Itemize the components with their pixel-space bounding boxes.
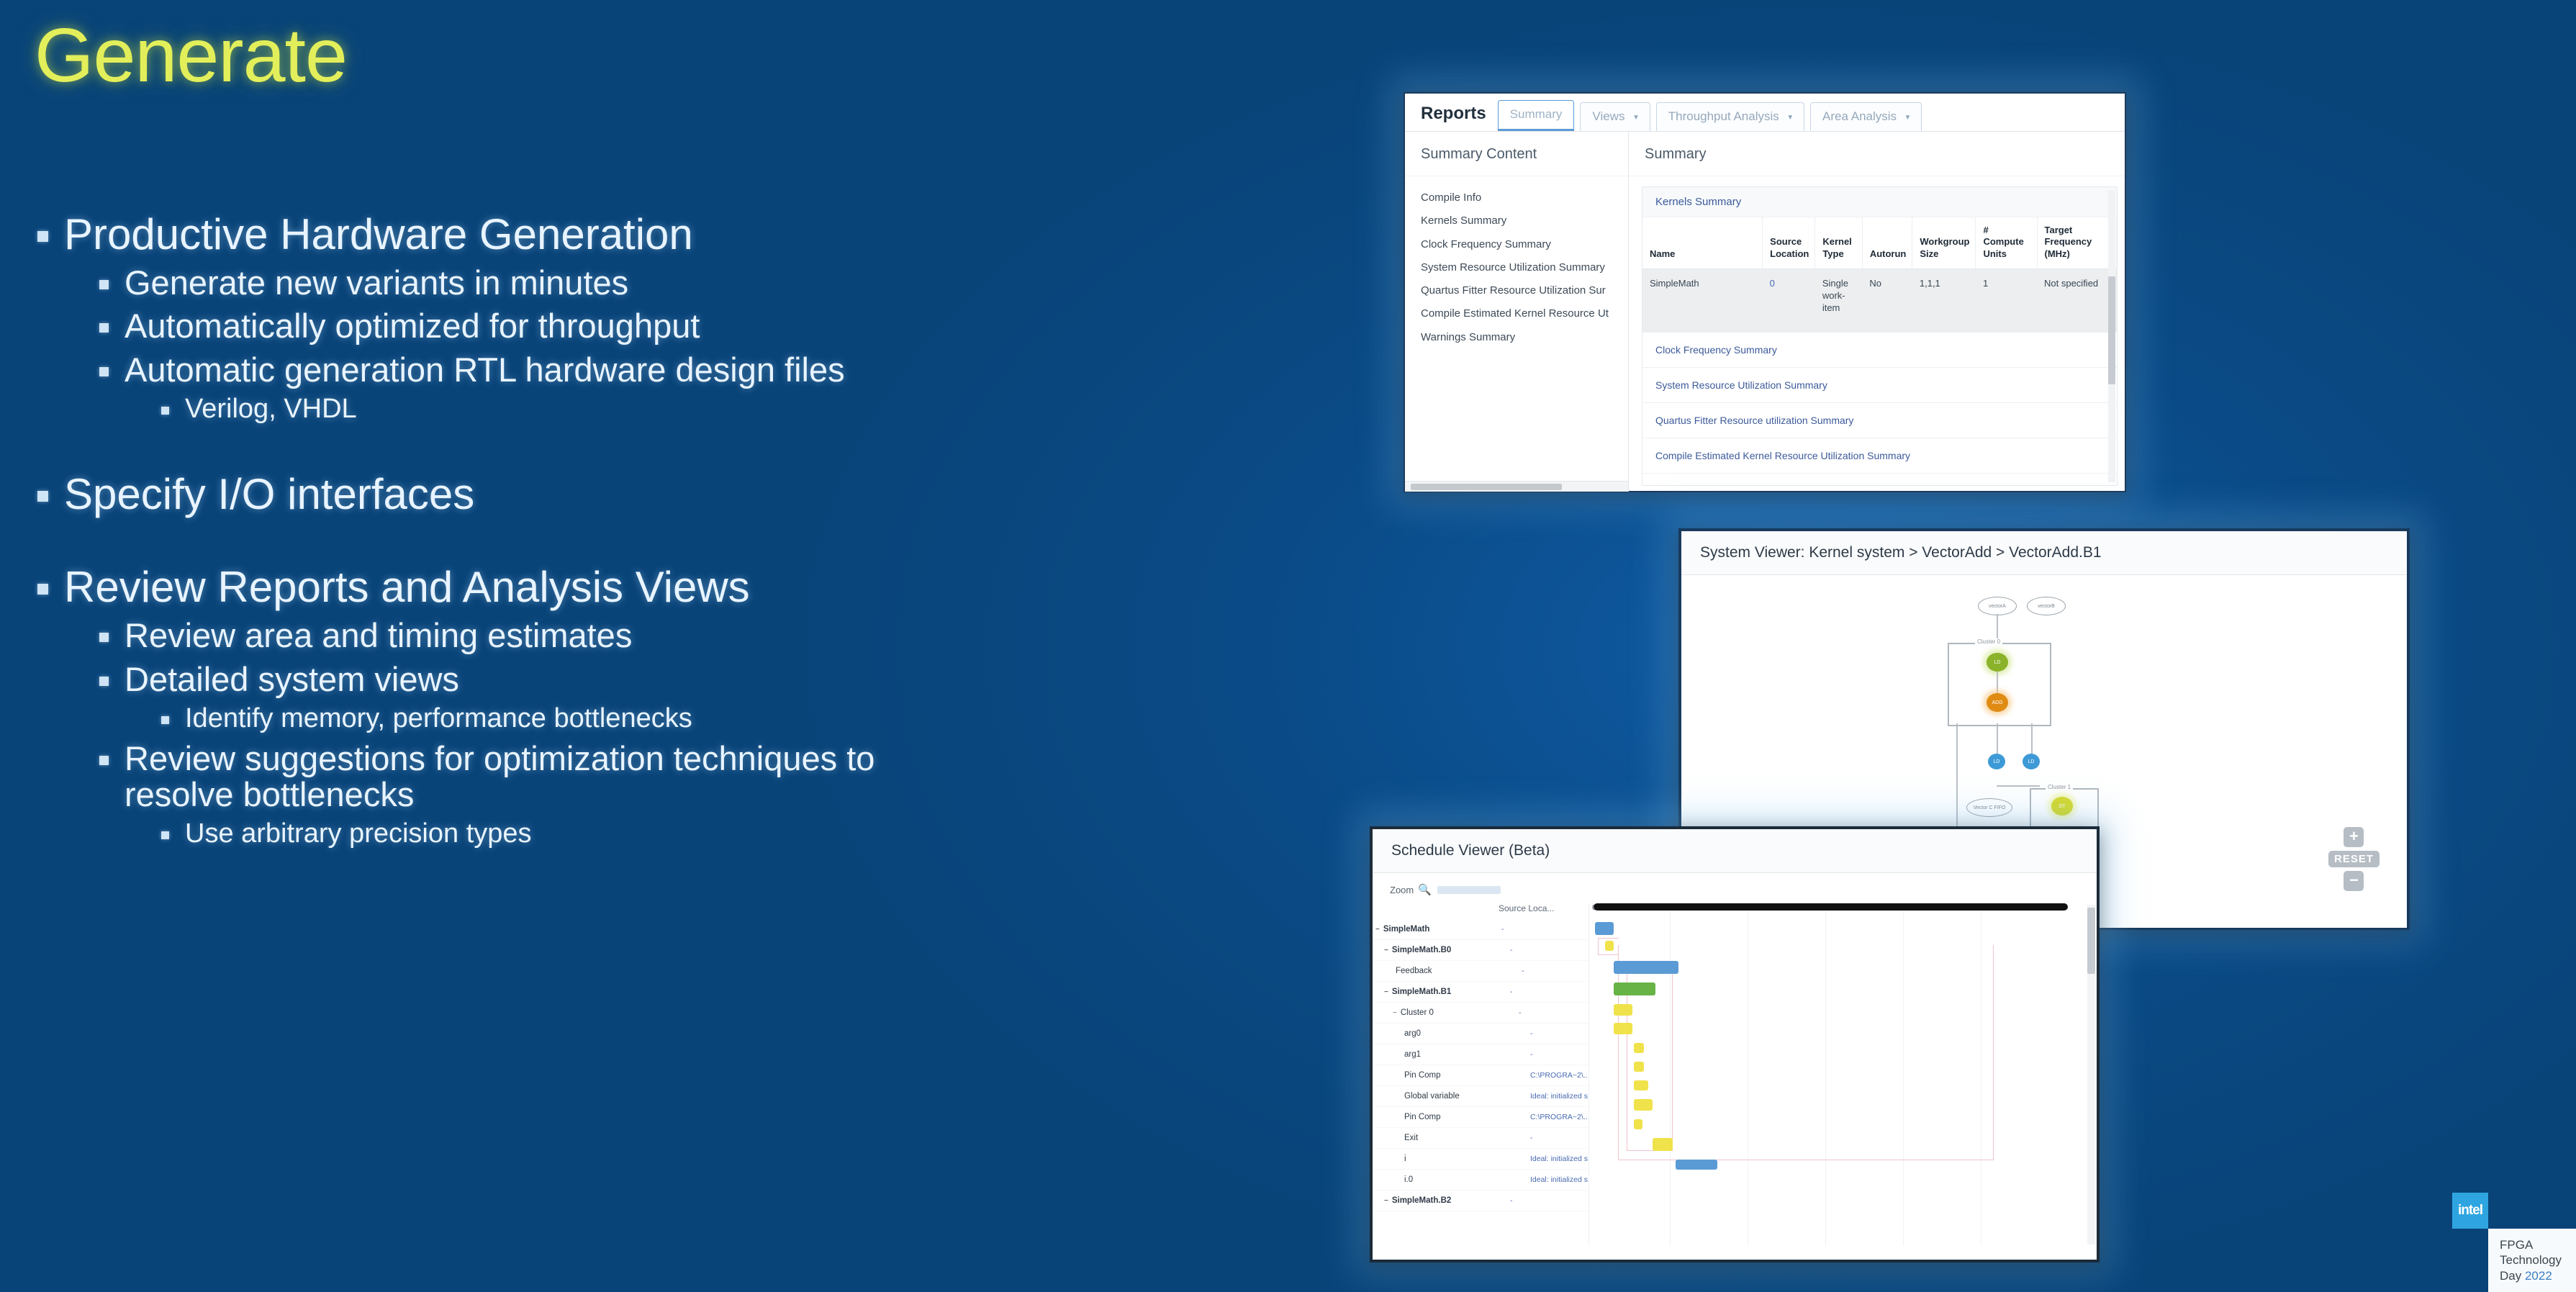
list-item-label: Detailed system views <box>125 661 459 698</box>
spacer <box>37 424 1376 469</box>
link-quartus-fitter-summary[interactable]: Quartus Fitter Resource utilization Summ… <box>1642 403 2117 438</box>
list-item: Identify memory, performance bottlenecks <box>161 704 1376 733</box>
chart-bar[interactable] <box>1653 1138 1673 1151</box>
chart-bar[interactable] <box>1634 1062 1644 1072</box>
tab-area-analysis-label: Area Analysis <box>1822 109 1897 123</box>
list-item-label: Automatic generation RTL hardware design… <box>125 352 845 389</box>
bullet-square-icon <box>99 677 109 686</box>
list-item-label: Verilog, VHDL <box>185 394 357 424</box>
tree-twisty-icon[interactable]: − <box>1384 988 1388 996</box>
bullet-square-icon <box>161 716 169 724</box>
schedule-viewer-title: Schedule Viewer (Beta) <box>1373 829 2097 873</box>
summary-main: Summary Kernels Summary Name Source Loca… <box>1629 132 2125 492</box>
tree-row[interactable]: Feedback- <box>1373 961 1588 982</box>
reports-title: Reports <box>1415 104 1498 131</box>
tree-row-source[interactable]: C:\PROGRA~2\.. <box>1530 1113 1588 1121</box>
chart-bar[interactable] <box>1634 1099 1653 1111</box>
tree-row-label: SimpleMath.B1 <box>1392 988 1451 996</box>
reports-body: Summary Content Compile Info Kernels Sum… <box>1405 132 2125 492</box>
table-row[interactable]: SimpleMath 0 Single work-item No 1,1,1 1… <box>1642 268 2117 333</box>
cell-compute-units: 1 <box>1976 268 2037 333</box>
tree-row-label: Global variable <box>1404 1092 1460 1101</box>
bullet-square-icon <box>99 280 109 289</box>
group-cluster-0-label: Cluster 0 <box>1975 638 2002 645</box>
schedule-dependency-path <box>1618 945 1994 1160</box>
node-vectorA[interactable]: vectorA <box>1978 597 2017 615</box>
chart-bar[interactable] <box>1614 961 1678 974</box>
tree-row[interactable]: arg0- <box>1373 1024 1588 1044</box>
tree-row-label: i.0 <box>1404 1175 1413 1184</box>
bullet-square-icon <box>37 231 48 242</box>
cell-name: SimpleMath <box>1642 268 1763 333</box>
tree-row-source: - <box>1501 925 1588 934</box>
schedule-chart[interactable]: 0 3 6 9 12 15 18 21 24 27 30 33 36 39 42… <box>1589 903 2097 1246</box>
bullet-square-icon <box>99 367 109 376</box>
list-item-label: Review Reports and Analysis Views <box>64 564 750 610</box>
tab-throughput-analysis-label: Throughput Analysis <box>1668 109 1779 123</box>
fpga-day-label: Day <box>2500 1269 2525 1283</box>
bullet-square-icon <box>99 756 109 765</box>
tab-summary[interactable]: Summary <box>1498 100 1575 131</box>
list-item: Review Reports and Analysis Views <box>37 564 1376 610</box>
chart-timeline-bar[interactable] <box>1594 903 2068 911</box>
sidebar-header: Summary Content <box>1405 132 1628 176</box>
bullet-square-icon <box>161 407 169 415</box>
list-item-label: Productive Hardware Generation <box>64 212 693 258</box>
tree-row[interactable]: arg1- <box>1373 1044 1588 1065</box>
tree-row-label: Cluster 0 <box>1401 1008 1434 1017</box>
kernels-summary-section-title[interactable]: Kernels Summary <box>1642 187 2117 217</box>
node-label: vectorB <box>2038 604 2055 609</box>
tree-col-source: Source Loca... <box>1499 903 1554 913</box>
tree-row-source: - <box>1519 1008 1588 1017</box>
list-item: Automatically optimized for throughput <box>99 308 1376 345</box>
cell-autorun: No <box>1862 268 1912 333</box>
tree-col-name <box>1373 903 1499 913</box>
edge <box>1956 723 1958 839</box>
zoom-out-icon[interactable]: − <box>2344 871 2364 891</box>
node-label: LD <box>1994 759 2000 764</box>
tree-row[interactable]: Pin CompC:\PROGRA~2\.. <box>1373 1065 1588 1086</box>
tree-row-source: - <box>1530 1029 1588 1038</box>
tree-row-label: Exit <box>1404 1134 1418 1142</box>
fpga-line-1: FPGA <box>2500 1237 2569 1252</box>
node-label: ST <box>2059 804 2066 809</box>
reports-window[interactable]: Reports Summary Views ▾ Throughput Analy… <box>1404 92 2126 492</box>
scrollbar-thumb[interactable] <box>2087 908 2095 974</box>
sidebar-item-quartus-fitter[interactable]: Quartus Fitter Resource Utilization Sur <box>1421 279 1628 302</box>
tree-row-label: SimpleMath <box>1383 925 1430 934</box>
edge <box>1997 723 1998 754</box>
summary-header: Summary <box>1629 132 2125 176</box>
link-clock-frequency-summary[interactable]: Clock Frequency Summary <box>1642 333 2117 368</box>
col-compute-units: # Compute Units <box>1976 217 2037 268</box>
tree-row-label: arg0 <box>1404 1029 1421 1038</box>
edge <box>2031 723 2033 754</box>
sidebar-horizontal-scrollbar[interactable] <box>1405 481 1628 492</box>
col-kernel-type: Kernel Type <box>1815 217 1863 268</box>
tab-views[interactable]: Views ▾ <box>1580 102 1650 131</box>
tree-row-source: - <box>1522 967 1588 975</box>
chart-bar[interactable] <box>1634 1080 1648 1090</box>
node-add[interactable]: ADD <box>1987 693 2008 712</box>
kernels-summary-table: Name Source Location Kernel Type Autorun… <box>1642 217 2117 333</box>
node-pipe-1[interactable]: LD <box>2023 754 2040 769</box>
tree-row-source[interactable]: C:\PROGRA~2\.. <box>1530 1071 1588 1080</box>
list-item-label: Review suggestions for optimization tech… <box>125 741 887 814</box>
fpga-line-3: Day 2022 <box>2500 1268 2569 1283</box>
zoom-reset-button[interactable]: RESET <box>2328 851 2380 867</box>
tree-row[interactable]: −Cluster 0- <box>1373 1003 1588 1024</box>
sidebar-item-warnings-summary[interactable]: Warnings Summary <box>1421 326 1628 349</box>
sidebar-item-system-resource[interactable]: System Resource Utilization Summary <box>1421 256 1628 279</box>
tree-twisty-icon[interactable]: − <box>1384 1197 1388 1205</box>
node-label: Vector C FIFO <box>1974 805 2006 810</box>
bullet-list: Productive Hardware Generation Generate … <box>37 209 1376 849</box>
sidebar-item-compile-info[interactable]: Compile Info <box>1421 186 1628 209</box>
node-st[interactable]: ST <box>2051 797 2073 816</box>
tree-row[interactable]: Pin CompC:\PROGRA~2\.. <box>1373 1107 1588 1128</box>
chart-bar[interactable] <box>1676 1160 1717 1170</box>
tree-row-label: i <box>1404 1155 1406 1163</box>
tree-row-source: - <box>1510 988 1588 996</box>
list-item: Use arbitrary precision types <box>161 819 1376 849</box>
table-header-row: Name Source Location Kernel Type Autorun… <box>1642 217 2117 268</box>
summary-vertical-scrollbar[interactable] <box>2108 190 2115 482</box>
node-label: LD <box>1994 660 2001 665</box>
bullet-square-icon <box>161 831 169 839</box>
tree-row[interactable]: −SimpleMath.B2- <box>1373 1191 1588 1211</box>
chart-vertical-scrollbar[interactable] <box>2087 905 2095 1244</box>
tree-row[interactable]: Exit- <box>1373 1128 1588 1149</box>
chart-bar[interactable] <box>1614 1023 1632 1034</box>
tree-row[interactable]: Global variableIdeal: initialized s.. <box>1373 1086 1588 1107</box>
fpga-line-2: Technology <box>2500 1252 2569 1268</box>
node-ld[interactable]: LD <box>1987 653 2008 672</box>
list-item: Verilog, VHDL <box>161 394 1376 424</box>
col-target-frequency: Target Frequency (MHz) <box>2037 217 2117 268</box>
bullet-square-icon <box>99 323 109 333</box>
sidebar-item-kernels-summary[interactable]: Kernels Summary <box>1421 209 1628 232</box>
tab-throughput-analysis[interactable]: Throughput Analysis ▾ <box>1656 102 1804 131</box>
chart-bar[interactable] <box>1634 1043 1644 1053</box>
tree-row-source[interactable]: Ideal: initialized s.. <box>1530 1175 1588 1184</box>
node-label: vectorA <box>1989 604 2006 609</box>
tree-row[interactable]: −SimpleMath.B1- <box>1373 982 1588 1003</box>
list-item: Specify I/O interfaces <box>37 471 1376 518</box>
list-item: Generate new variants in minutes <box>99 265 1376 302</box>
zoom-slider[interactable] <box>1437 886 1501 894</box>
tree-row-source: - <box>1530 1050 1588 1059</box>
schedule-viewer-window[interactable]: Schedule Viewer (Beta) Zoom 🔍 Source Loc… <box>1370 826 2100 1262</box>
list-item: Detailed system views <box>99 661 1376 698</box>
link-compile-estimated-summary[interactable]: Compile Estimated Kernel Resource Utiliz… <box>1642 438 2117 474</box>
list-item: Review area and timing estimates <box>99 618 1376 654</box>
search-icon[interactable]: 🔍 <box>1418 883 1432 896</box>
tree-header: Source Loca... <box>1373 903 1588 919</box>
tab-summary-label: Summary <box>1510 107 1563 121</box>
list-item: Review suggestions for optimization tech… <box>99 741 1376 814</box>
list-item: Automatic generation RTL hardware design… <box>99 352 1376 389</box>
edge <box>1997 672 1998 693</box>
tree-row-source[interactable]: Ideal: initialized s.. <box>1530 1155 1588 1163</box>
list-item-label: Generate new variants in minutes <box>125 265 628 302</box>
tree-row-source: - <box>1530 1134 1588 1142</box>
chevron-down-icon: ▾ <box>1906 112 1910 122</box>
scrollbar-thumb[interactable] <box>1411 484 1562 490</box>
tree-row-source[interactable]: Ideal: initialized s.. <box>1530 1092 1588 1101</box>
col-name: Name <box>1642 217 1763 268</box>
sidebar-item-compile-estimated[interactable]: Compile Estimated Kernel Resource Ut <box>1421 302 1628 325</box>
zoom-in-icon[interactable]: + <box>2344 827 2364 847</box>
summary-scroll-region[interactable]: Kernels Summary Name Source Location Ker… <box>1642 186 2118 486</box>
tree-row-label: SimpleMath.B0 <box>1392 946 1451 954</box>
zoom-controls[interactable]: + RESET − <box>2328 823 2380 895</box>
cell-source-location[interactable]: 0 <box>1763 268 1815 333</box>
node-vectorC-fifo[interactable]: Vector C FIFO <box>1966 798 2012 817</box>
tree-twisty-icon[interactable]: − <box>1384 947 1388 954</box>
tree-row[interactable]: iIdeal: initialized s.. <box>1373 1149 1588 1170</box>
fpga-technology-day-card: FPGA Technology Day 2022 <box>2488 1229 2576 1292</box>
tab-area-analysis[interactable]: Area Analysis ▾ <box>1810 102 1922 131</box>
tree-twisty-icon[interactable]: − <box>1393 1009 1397 1017</box>
sidebar-item-clock-frequency[interactable]: Clock Frequency Summary <box>1421 233 1628 256</box>
schedule-grid: Source Loca... −SimpleMath- −SimpleMath.… <box>1373 903 2097 1246</box>
list-item-label: Review area and timing estimates <box>125 618 632 654</box>
sidebar-list: Compile Info Kernels Summary Clock Frequ… <box>1405 176 1628 481</box>
tree-row[interactable]: −SimpleMath.B0- <box>1373 940 1588 961</box>
node-label: ADD <box>1992 700 2003 705</box>
schedule-toolbar: Zoom 🔍 <box>1373 873 2097 903</box>
tree-row[interactable]: i.0Ideal: initialized s.. <box>1373 1170 1588 1191</box>
chart-bar[interactable] <box>1614 1004 1632 1016</box>
scrollbar-thumb[interactable] <box>2108 276 2115 384</box>
group-cluster-1-label: Cluster 1 <box>2046 784 2073 790</box>
tree-row-label: SimpleMath.B2 <box>1392 1196 1451 1205</box>
summary-content-sidebar: Summary Content Compile Info Kernels Sum… <box>1405 132 1629 492</box>
chevron-down-icon: ▾ <box>1789 112 1793 122</box>
tree-row-label: Feedback <box>1396 967 1432 975</box>
link-system-resource-summary[interactable]: System Resource Utilization Summary <box>1642 368 2117 403</box>
page-title: Generate <box>35 17 347 94</box>
bullet-square-icon <box>37 491 48 502</box>
tab-views-label: Views <box>1592 109 1624 123</box>
chart-bar[interactable] <box>1605 941 1614 951</box>
edge <box>1997 785 2040 787</box>
chart-bar[interactable] <box>1595 922 1614 935</box>
col-autorun: Autorun <box>1862 217 1912 268</box>
cell-workgroup-size: 1,1,1 <box>1912 268 1976 333</box>
node-vectorB[interactable]: vectorB <box>2027 597 2066 615</box>
tree-twisty-icon[interactable]: − <box>1375 926 1380 934</box>
chart-bar[interactable] <box>1634 1119 1642 1129</box>
fpga-year: 2022 <box>2525 1269 2552 1283</box>
list-item: Productive Hardware Generation <box>37 212 1376 258</box>
spacer <box>37 517 1376 561</box>
cell-kernel-type: Single work-item <box>1815 268 1863 333</box>
tree-row-source: - <box>1510 1196 1588 1205</box>
list-item-label: Automatically optimized for throughput <box>125 308 700 345</box>
list-item-label: Specify I/O interfaces <box>64 471 474 518</box>
col-source-location: Source Location <box>1763 217 1815 268</box>
system-viewer-breadcrumb: System Viewer: Kernel system > VectorAdd… <box>1681 531 2407 575</box>
node-pipe-0[interactable]: LD <box>1988 754 2005 769</box>
tree-row-label: Pin Comp <box>1404 1071 1441 1080</box>
tree-row-label: arg1 <box>1404 1050 1421 1059</box>
chart-bar[interactable] <box>1614 982 1655 995</box>
cell-target-frequency: Not specified <box>2037 268 2117 333</box>
list-item-label: Use arbitrary precision types <box>185 819 532 849</box>
col-workgroup-size: Workgroup Size <box>1912 217 1976 268</box>
tree-row-source: - <box>1510 946 1588 954</box>
bullet-square-icon <box>99 633 109 642</box>
tree-row-label: Pin Comp <box>1404 1113 1441 1121</box>
tree-row[interactable]: −SimpleMath- <box>1373 919 1588 940</box>
bullet-square-icon <box>37 584 48 595</box>
node-label: LD <box>2028 759 2035 764</box>
reports-tabbar: Reports Summary Views ▾ Throughput Analy… <box>1405 94 2125 132</box>
schedule-tree: Source Loca... −SimpleMath- −SimpleMath.… <box>1373 903 1589 1246</box>
list-item-label: Identify memory, performance bottlenecks <box>185 704 692 733</box>
zoom-label: Zoom <box>1390 885 1414 895</box>
chevron-down-icon: ▾ <box>1634 112 1638 122</box>
intel-logo: intel <box>2452 1193 2488 1229</box>
